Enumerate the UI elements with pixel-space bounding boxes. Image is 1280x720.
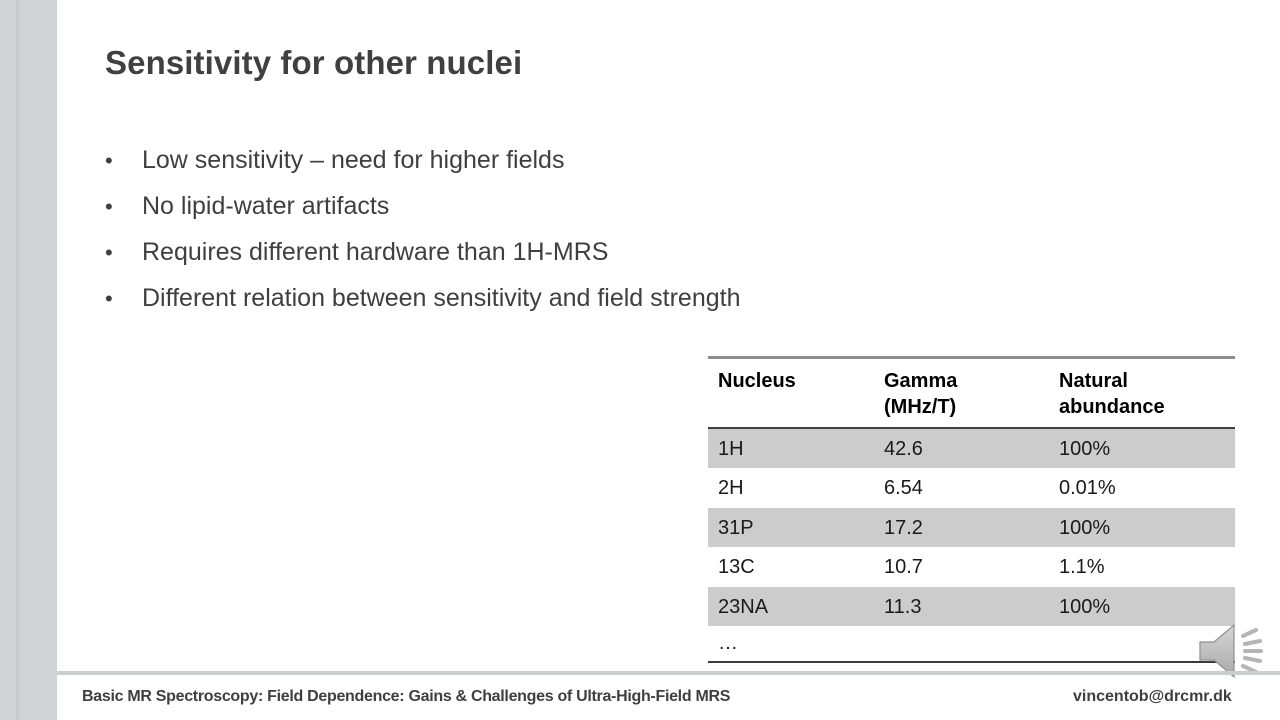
column-header-gamma-line-1: Gamma [884, 368, 1059, 394]
table-row: 1H 42.6 100% [708, 429, 1235, 469]
table-row: 13C 10.7 1.1% [708, 547, 1235, 587]
table-header-row: Nucleus Gamma (MHz/T) Natural abundance [708, 359, 1235, 427]
table-bottom-rule [708, 661, 1235, 663]
cell-continuation: … [708, 632, 739, 655]
list-item-label: Requires different hardware than 1H-MRS [142, 240, 608, 265]
cell-gamma: 10.7 [884, 557, 1059, 577]
nuclei-table: Nucleus Gamma (MHz/T) Natural abundance … [708, 356, 1235, 663]
column-header-abundance-line-2: abundance [1059, 394, 1225, 420]
bullet-marker-icon: • [105, 150, 142, 172]
cell-nucleus: 2H [708, 478, 884, 498]
list-item: • Requires different hardware than 1H-MR… [105, 240, 1005, 286]
list-item-label: Low sensitivity – need for higher fields [142, 148, 564, 173]
cell-nucleus: 31P [708, 518, 884, 538]
table-row: 31P 17.2 100% [708, 508, 1235, 548]
footer-presentation-title: Basic MR Spectroscopy: Field Dependence:… [82, 688, 730, 706]
column-header-nucleus-line-1: Nucleus [718, 368, 884, 394]
slide-sidebar-strip [0, 0, 57, 720]
page-title: Sensitivity for other nuclei [105, 44, 522, 82]
cell-gamma: 11.3 [884, 597, 1059, 617]
bullet-list: • Low sensitivity – need for higher fiel… [105, 148, 1005, 332]
cell-abundance: 100% [1059, 518, 1225, 538]
cell-nucleus: 13C [708, 557, 884, 577]
table-row-continuation: … [708, 626, 1235, 661]
table-row: 23NA 11.3 100% [708, 587, 1235, 627]
cell-gamma: 6.54 [884, 478, 1059, 498]
footer-divider [57, 671, 1280, 675]
list-item: • Different relation between sensitivity… [105, 286, 1005, 332]
bullet-marker-icon: • [105, 242, 142, 264]
cell-gamma: 42.6 [884, 439, 1059, 459]
bullet-marker-icon: • [105, 196, 142, 218]
cell-nucleus: 23NA [708, 597, 884, 617]
column-header-gamma-line-2: (MHz/T) [884, 394, 1059, 420]
column-header-abundance: Natural abundance [1059, 368, 1225, 421]
list-item-label: Different relation between sensitivity a… [142, 286, 741, 311]
column-header-gamma: Gamma (MHz/T) [884, 368, 1059, 421]
footer-contact-email: vincentob@drcmr.dk [1073, 688, 1232, 706]
table-row: 2H 6.54 0.01% [708, 468, 1235, 508]
list-item-label: No lipid-water artifacts [142, 194, 389, 219]
column-header-nucleus: Nucleus [708, 368, 884, 421]
cell-abundance: 1.1% [1059, 557, 1225, 577]
cell-abundance: 100% [1059, 439, 1225, 459]
list-item: • Low sensitivity – need for higher fiel… [105, 148, 1005, 194]
list-item: • No lipid-water artifacts [105, 194, 1005, 240]
bullet-marker-icon: • [105, 288, 142, 310]
cell-abundance: 100% [1059, 597, 1225, 617]
cell-gamma: 17.2 [884, 518, 1059, 538]
slide-sidebar-accent-line [16, 0, 19, 720]
cell-nucleus: 1H [708, 439, 884, 459]
cell-abundance: 0.01% [1059, 478, 1225, 498]
column-header-abundance-line-1: Natural [1059, 368, 1225, 394]
